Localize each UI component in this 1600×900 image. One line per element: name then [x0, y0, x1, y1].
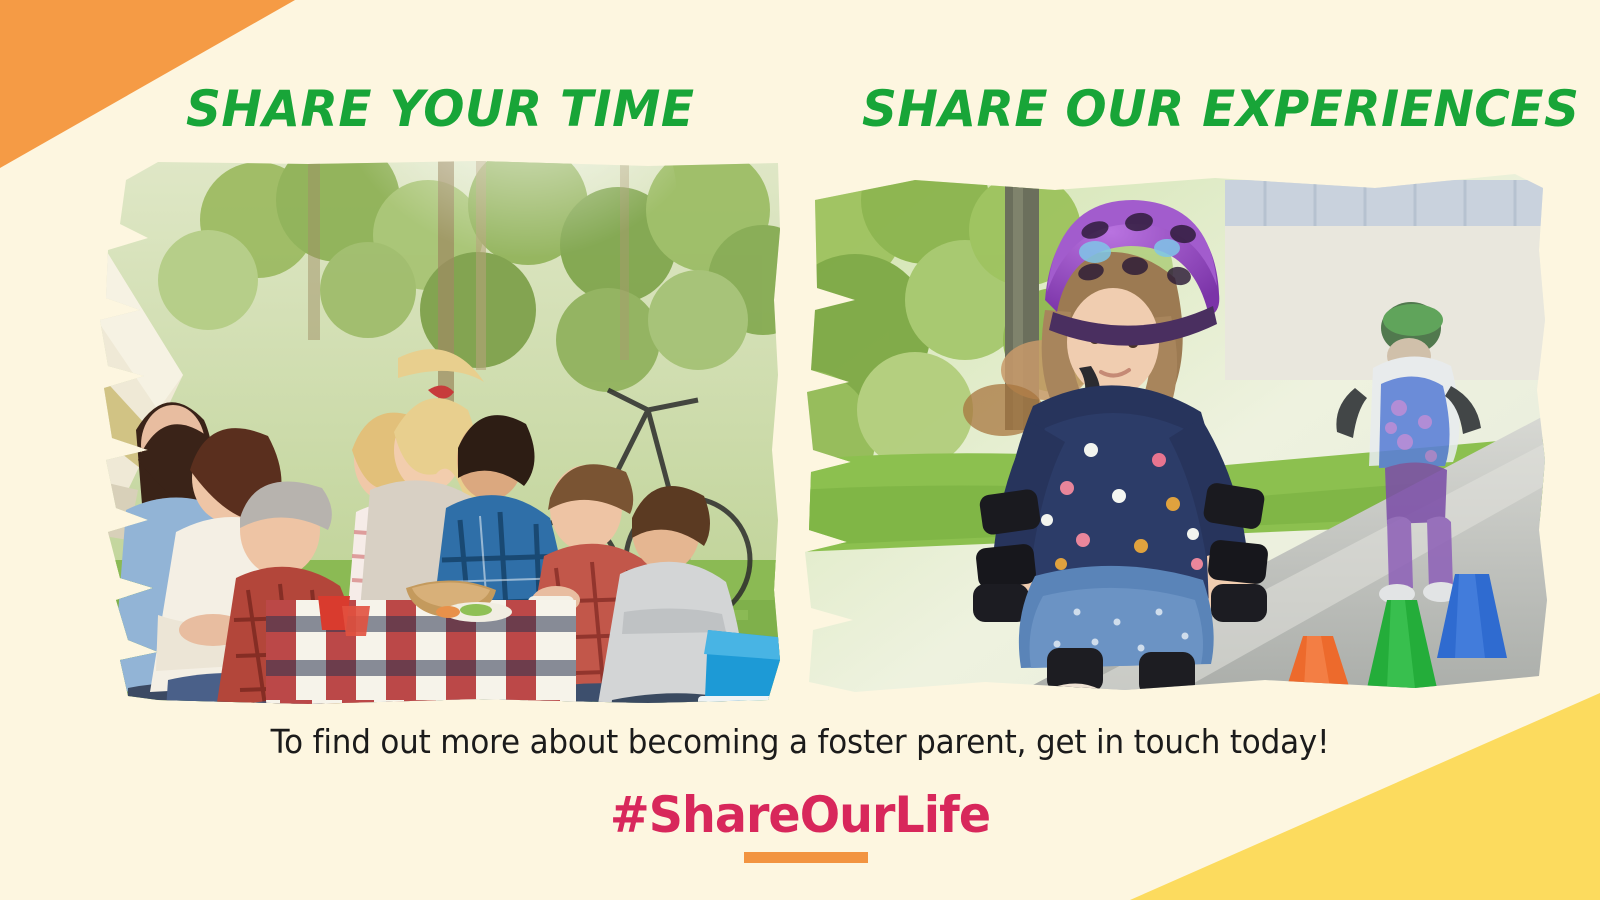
poster-canvas: SHARE YOUR TIME SHARE OUR EXPERIENCES	[0, 0, 1600, 900]
tagline-text: To find out more about becoming a foster…	[48, 722, 1552, 761]
headline-right: SHARE OUR EXPERIENCES	[862, 80, 1579, 138]
hashtag-underline	[744, 852, 868, 863]
headline-left: SHARE YOUR TIME	[186, 80, 694, 138]
hashtag-text: #ShareOurLife	[40, 786, 1560, 844]
girl-rollerblading-photo	[795, 160, 1555, 705]
family-picnic-photo	[8, 160, 788, 705]
